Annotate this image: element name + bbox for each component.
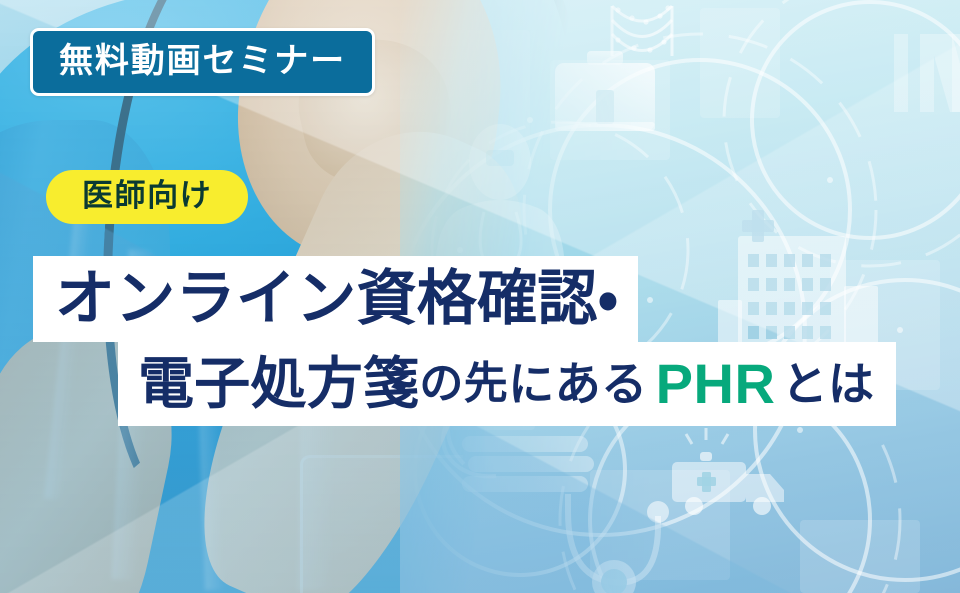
headline-line-2: 電子処方箋 の先 にある PHR とは: [118, 342, 896, 426]
webinar-banner: 無料動画セミナー 医師向け オンライン資格確認・ 電子処方箋 の先 にある PH…: [0, 0, 960, 593]
target-audience-badge: 医師向け: [46, 170, 248, 224]
headline-line-2-sub: の先: [419, 362, 508, 406]
headline-line-1: オンライン資格確認・: [33, 256, 638, 342]
headline-line-2-tail: とは: [782, 361, 875, 407]
seminar-type-badge: 無料動画セミナー: [30, 28, 375, 96]
headline-line-2-main: 電子処方箋: [138, 356, 419, 412]
banner-content: 無料動画セミナー 医師向け オンライン資格確認・ 電子処方箋 の先 にある PH…: [0, 0, 960, 593]
headline-line-2-sub2: にある: [508, 361, 647, 407]
headline-line-1-text: オンライン資格確認・: [55, 269, 618, 329]
headline-phr-highlight: PHR: [648, 356, 782, 412]
